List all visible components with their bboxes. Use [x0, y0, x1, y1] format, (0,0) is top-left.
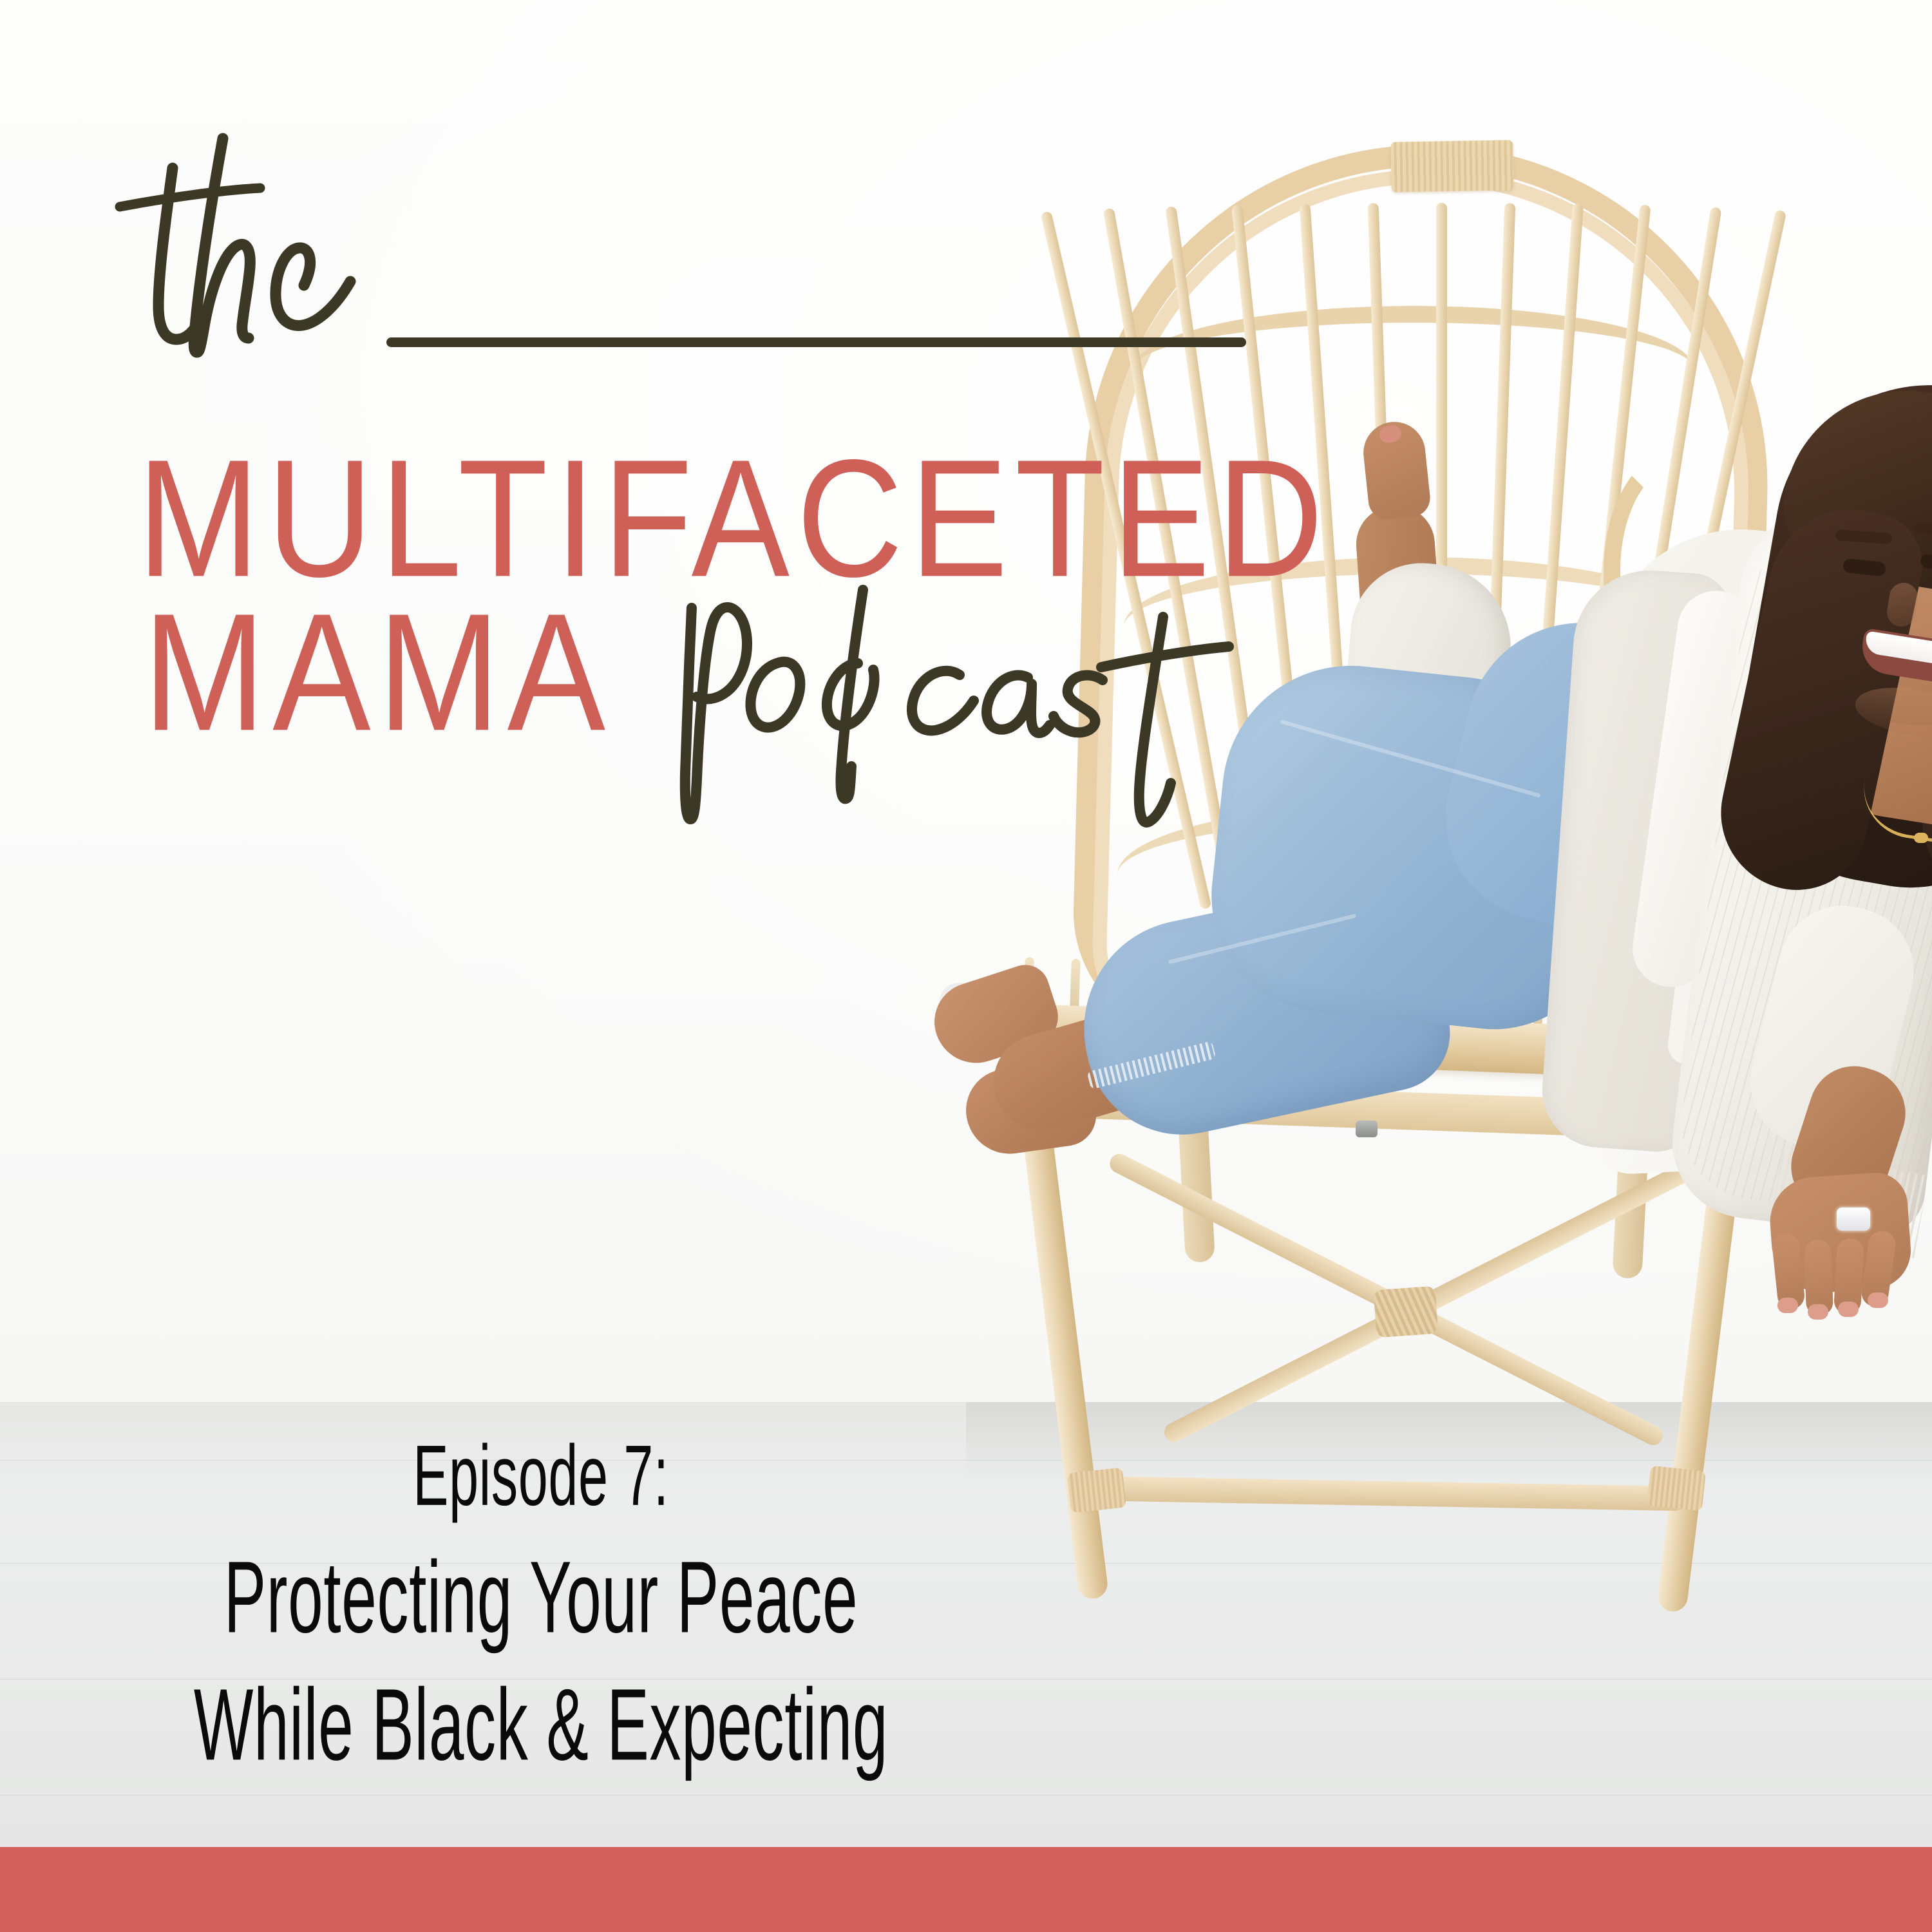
engagement-ring — [1837, 1207, 1870, 1231]
episode-text-block: Episode 7: Protecting Your Peace While B… — [0, 1433, 1082, 1764]
script-the-icon — [97, 113, 406, 383]
fingernail-3 — [1838, 1302, 1859, 1317]
script-podcast-icon — [657, 567, 1269, 844]
bottom-accent-bar — [0, 1847, 1932, 1932]
podcast-cover-art: MULTIFACETED MAMA — [0, 0, 1932, 1932]
fingernail-2 — [1808, 1304, 1828, 1320]
episode-title-line-1: Protecting Your Peace — [162, 1546, 920, 1648]
fingernail-1 — [1777, 1298, 1798, 1313]
teeth — [1864, 630, 1932, 667]
podcast-logo-block: MULTIFACETED MAMA — [0, 0, 1352, 805]
necklace-pendant — [1914, 833, 1928, 843]
episode-number: Episode 7: — [162, 1433, 920, 1519]
divider-rule — [386, 337, 1246, 347]
fingernail-4 — [1868, 1293, 1888, 1308]
episode-title-line-2: While Black & Expecting — [162, 1674, 920, 1776]
brand-title-line-2: MAMA — [143, 589, 612, 757]
